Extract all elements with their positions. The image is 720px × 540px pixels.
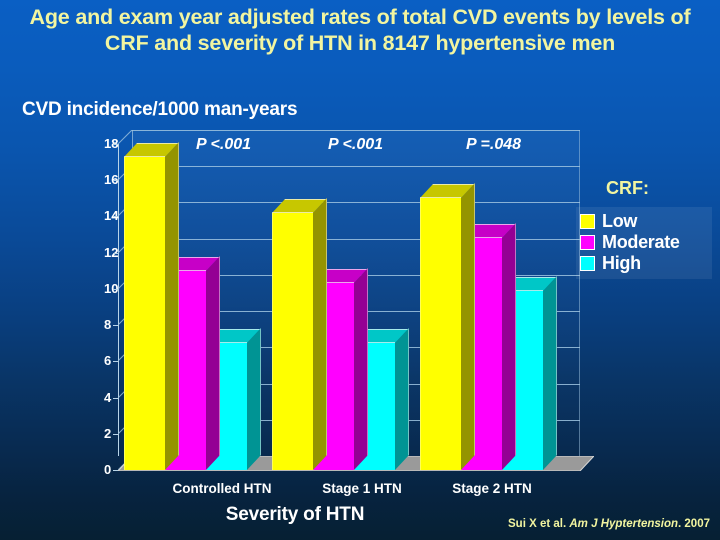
y-axis-tick-mark (113, 434, 118, 435)
legend-label-high: High (602, 254, 641, 273)
citation-year: . 2007 (678, 518, 710, 530)
p-value-label-1: P <.001 (196, 136, 251, 154)
plot-right-edge (579, 130, 580, 456)
y-axis-tick-label: 10 (104, 281, 108, 296)
y-axis-tick-label: 18 (104, 136, 108, 151)
legend-swatch-low (580, 214, 595, 229)
bar-top-edge (420, 197, 461, 198)
category-label-1: Controlled HTN (173, 481, 272, 496)
y-axis-caption: CVD incidence/1000 man-years (22, 99, 297, 121)
legend-item-high[interactable]: High (580, 253, 708, 274)
bar-top-edge (272, 212, 313, 213)
p-value-label-3: P =.048 (466, 136, 521, 154)
citation: Sui X et al. Am J Hyptertension. 2007 (508, 518, 710, 530)
bar-side-face (543, 276, 557, 470)
gridline (132, 202, 580, 203)
citation-journal: Am J Hyptertension (569, 518, 678, 530)
bar-side-face (206, 256, 220, 470)
legend-title: CRF: (606, 178, 649, 199)
bar-side-face (247, 328, 261, 470)
bar-front-face (124, 157, 165, 470)
y-axis-tick-mark (113, 289, 118, 290)
chart-legend: LowModerateHigh (576, 207, 712, 279)
y-axis-tick-mark (113, 216, 118, 217)
category-label-2: Stage 1 HTN (322, 481, 402, 496)
p-value-label-2: P <.001 (328, 136, 383, 154)
y-axis-tick-mark (113, 180, 118, 181)
bar-side-face (354, 268, 368, 470)
bar-front-face (420, 198, 461, 470)
bar-side-face (395, 328, 409, 470)
y-axis-line (118, 144, 119, 456)
chart-plot-area: 024681012141618 P <.001P <.001P =.048 (118, 130, 580, 470)
y-axis-tick-mark (113, 398, 118, 399)
y-axis-tick-mark (113, 144, 118, 145)
gridline-connector (118, 130, 132, 144)
legend-label-moderate: Moderate (602, 233, 680, 252)
y-axis-tick-label: 12 (104, 245, 108, 260)
bar-front-face (272, 213, 313, 470)
bar-top-edge (124, 156, 165, 157)
y-axis-tick-label: 14 (104, 209, 108, 224)
legend-swatch-high (580, 256, 595, 271)
bar-side-face (461, 183, 475, 470)
bar-low-2 (272, 213, 313, 470)
legend-swatch-moderate (580, 235, 595, 250)
citation-author: Sui X et al. (508, 518, 566, 530)
y-axis-tick-label: 8 (104, 317, 108, 332)
y-axis-tick-mark (113, 253, 118, 254)
y-axis-tick-label: 2 (104, 426, 108, 441)
slide-canvas: Age and exam year adjusted rates of tota… (0, 0, 720, 540)
bar-low-1 (124, 157, 165, 470)
y-axis-tick-mark (113, 361, 118, 362)
bar-side-face (165, 142, 179, 470)
bar-side-face (313, 198, 327, 470)
y-axis-tick-label: 16 (104, 172, 108, 187)
gridline (132, 130, 580, 131)
x-axis-title: Severity of HTN (0, 504, 590, 526)
bar-side-face (502, 223, 516, 470)
y-axis-tick-mark (113, 325, 118, 326)
gridline (132, 166, 580, 167)
slide-title: Age and exam year adjusted rates of tota… (10, 4, 710, 56)
y-axis-tick-label: 4 (104, 390, 108, 405)
legend-item-moderate[interactable]: Moderate (580, 232, 708, 253)
legend-label-low: Low (602, 212, 637, 231)
bar-low-3 (420, 198, 461, 470)
y-axis-tick-label: 0 (104, 462, 108, 477)
category-label-3: Stage 2 HTN (452, 481, 532, 496)
y-axis-tick-label: 6 (104, 354, 108, 369)
legend-item-low[interactable]: Low (580, 211, 708, 232)
